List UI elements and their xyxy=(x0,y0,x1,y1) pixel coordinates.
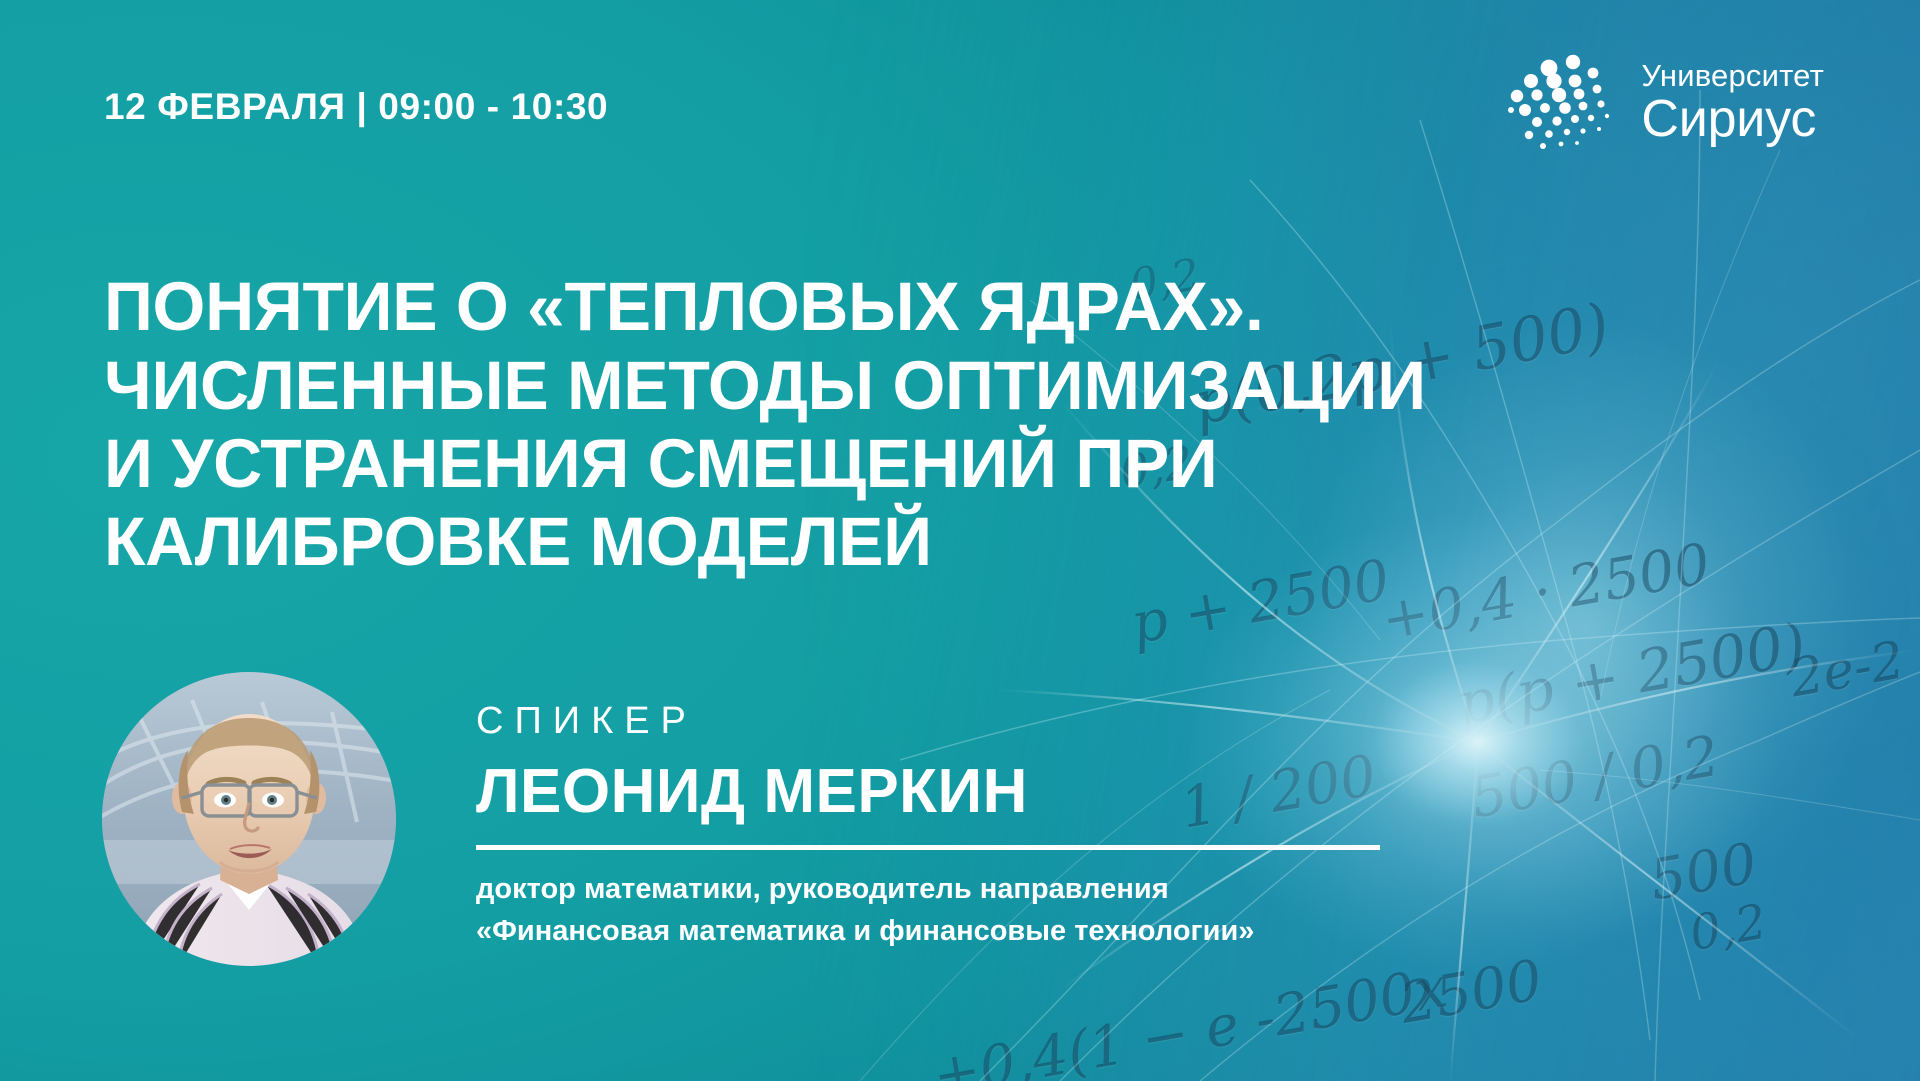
event-title-line-1: ПОНЯТИЕ О «ТЕПЛОВЫХ ЯДРАХ». xyxy=(104,268,1503,346)
logo-wordmark: Университет Сириус xyxy=(1641,60,1824,145)
speaker-description-line-2: «Финансовая математика и финансовые техн… xyxy=(476,911,1476,952)
event-title-line-3: И УСТРАНЕНИЯ СМЕЩЕНИЙ ПРИ xyxy=(104,425,1503,503)
logo-line-sirius: Сириус xyxy=(1641,93,1824,145)
event-date-time: 12 ФЕВРАЛЯ | 09:00 - 10:30 xyxy=(104,86,608,128)
sirius-dot-cluster-logo-icon xyxy=(1503,48,1615,156)
event-title-line-2: ЧИСЛЕННЫЕ МЕТОДЫ ОПТИМИЗАЦИИ xyxy=(104,347,1503,425)
event-announcement-banner: p(0,2p + 500) 0,2 p + 2500 +0,4 · 2500 p… xyxy=(0,0,1920,1081)
speaker-name: ЛЕОНИД МЕРКИН xyxy=(476,760,1476,824)
speaker-block: СПИКЕР ЛЕОНИД МЕРКИН доктор математики, … xyxy=(476,700,1476,952)
speaker-divider xyxy=(476,845,1380,850)
speaker-avatar xyxy=(102,672,396,966)
logo-line-university: Университет xyxy=(1641,60,1824,91)
speaker-label: СПИКЕР xyxy=(476,700,1476,743)
event-title-line-4: КАЛИБРОВКЕ МОДЕЛЕЙ xyxy=(104,503,1503,581)
event-title: ПОНЯТИЕ О «ТЕПЛОВЫХ ЯДРАХ». ЧИСЛЕННЫЕ МЕ… xyxy=(104,268,1503,581)
sirius-university-logo[interactable]: Университет Сириус xyxy=(1503,48,1824,156)
speaker-description: доктор математики, руководитель направле… xyxy=(476,869,1476,951)
speaker-description-line-1: доктор математики, руководитель направле… xyxy=(476,869,1476,910)
